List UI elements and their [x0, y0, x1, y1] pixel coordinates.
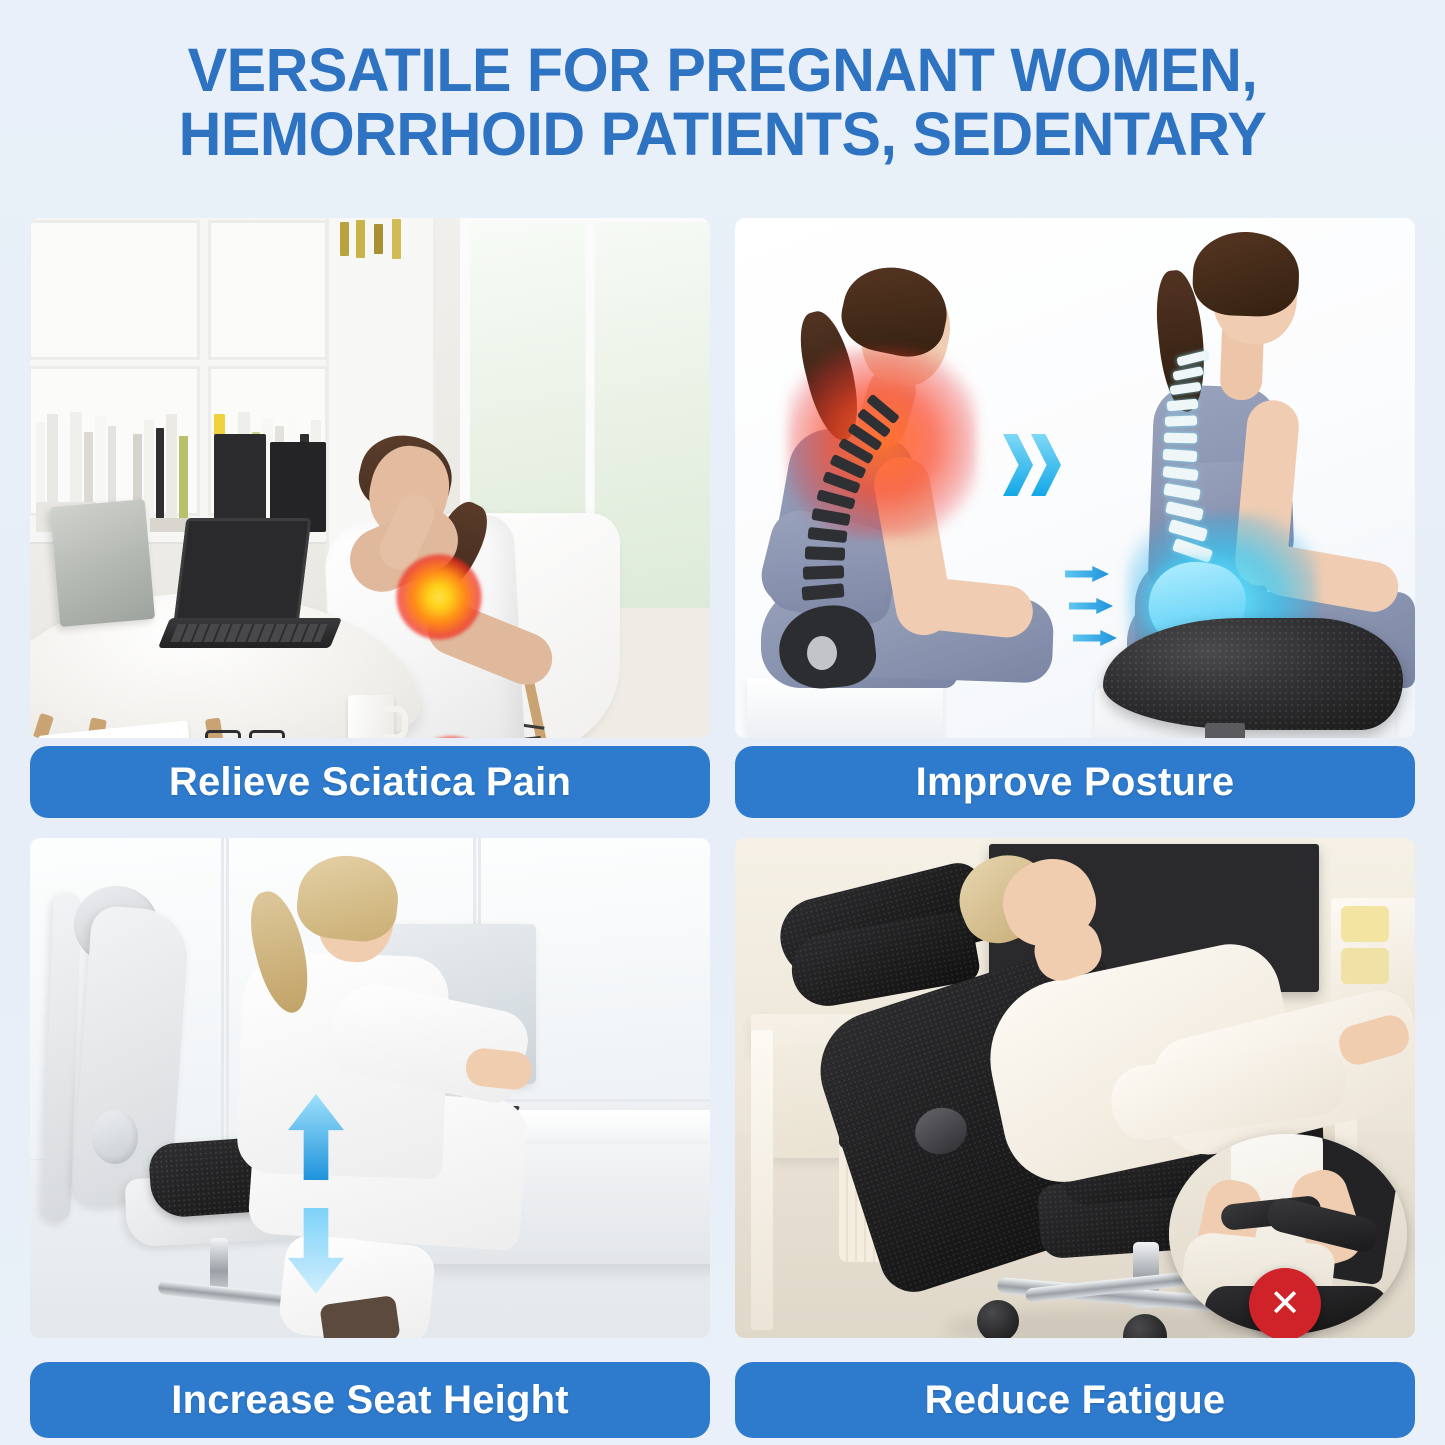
eyeglasses-icon: [205, 730, 287, 738]
coffee-mug-icon: [348, 695, 394, 738]
photo-reduce-fatigue: ✕: [735, 838, 1415, 1338]
photo-improve-posture: [735, 218, 1415, 738]
page-title: VERSATILE FOR PREGNANT WOMEN, HEMORRHOID…: [22, 38, 1424, 166]
x-badge-glyph: ✕: [1269, 1285, 1301, 1323]
x-badge: ✕: [1249, 1268, 1321, 1338]
photo-relieve-sciatica-pain: [30, 218, 710, 738]
benefits-grid: Relieve Sciatica Pain: [30, 218, 1415, 1438]
caster-wheel: [977, 1300, 1019, 1338]
caption-relieve-sciatica-pain: Relieve Sciatica Pain: [30, 746, 710, 818]
lumbar-pad-icon: [92, 1110, 138, 1164]
neck-pain-glow-icon: [396, 554, 482, 640]
benefit-card-reduce-fatigue[interactable]: ✕ Reduce Fatigue: [735, 838, 1415, 1438]
storage-box: [1341, 948, 1389, 984]
caption-increase-seat-height: Increase Seat Height: [30, 1362, 710, 1438]
benefit-card-improve-posture[interactable]: Improve Posture: [735, 218, 1415, 818]
benefit-card-increase-seat-height[interactable]: Increase Seat Height: [30, 838, 710, 1438]
chair-post: [1205, 723, 1245, 738]
storage-box: [1341, 906, 1389, 942]
caption-improve-posture: Improve Posture: [735, 746, 1415, 818]
headline-line-2: HEMORRHOID PATIENTS, SEDENTARY: [22, 102, 1424, 166]
desk-leg: [751, 1030, 773, 1330]
headline-line-1: VERSATILE FOR PREGNANT WOMEN,: [188, 36, 1258, 104]
seat-cushion-icon: [1103, 618, 1403, 730]
monitor-icon: [50, 499, 155, 627]
infographic-root: VERSATILE FOR PREGNANT WOMEN, HEMORRHOID…: [0, 0, 1445, 1445]
benefit-card-relieve-sciatica-pain[interactable]: Relieve Sciatica Pain: [30, 218, 710, 818]
photo-increase-seat-height: [30, 838, 710, 1338]
caption-reduce-fatigue: Reduce Fatigue: [735, 1362, 1415, 1438]
